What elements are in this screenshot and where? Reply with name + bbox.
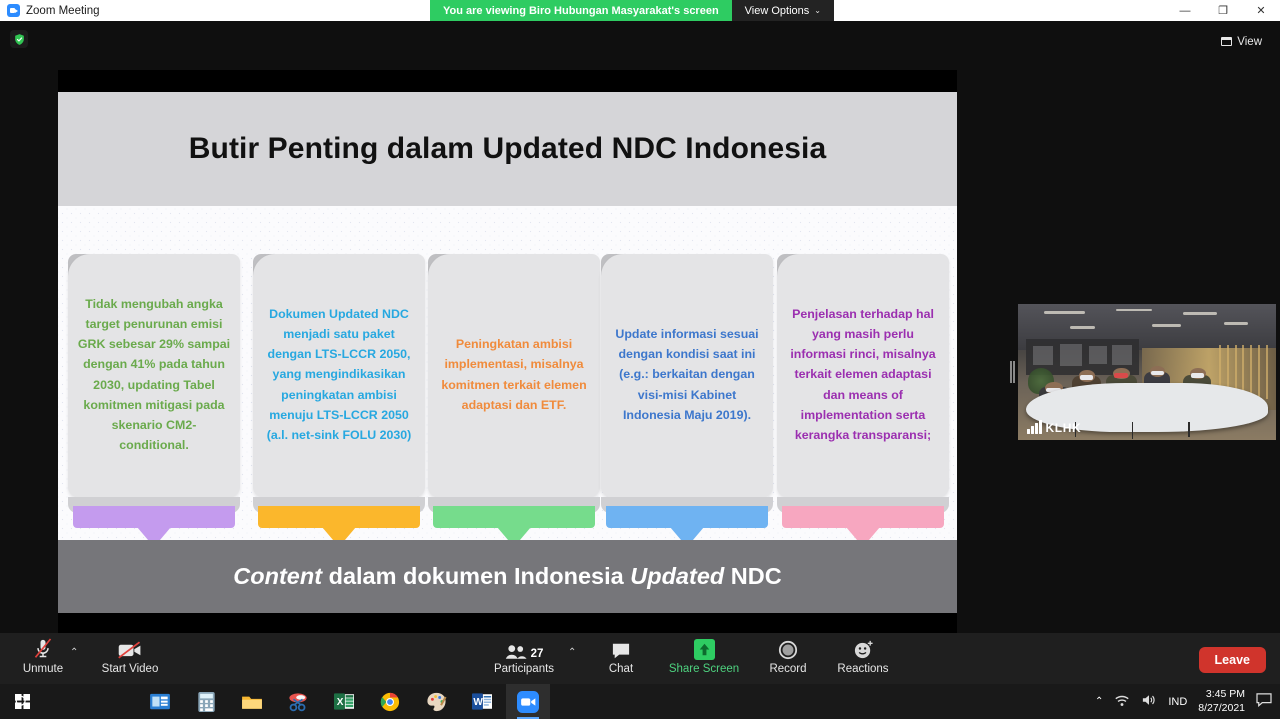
- clock[interactable]: 3:45 PM 8/27/2021: [1198, 688, 1245, 714]
- watermark-label: KLHK: [1046, 422, 1082, 434]
- maximize-restore-button[interactable]: ❐: [1204, 0, 1242, 21]
- share-screen-button[interactable]: Share Screen: [663, 638, 745, 675]
- info-card[interactable]: Update informasi sesuai dengan kondisi s…: [601, 254, 773, 497]
- signal-bars-icon: [1027, 420, 1042, 434]
- speaker-icon[interactable]: [1141, 693, 1157, 710]
- screen-share-banner: You are viewing Biro Hubungan Masyarakat…: [430, 0, 732, 21]
- leave-button[interactable]: Leave: [1199, 647, 1266, 673]
- window-controls: — ❐ ✕: [1166, 0, 1280, 21]
- card-ribbon: [433, 506, 595, 528]
- banner-mid-2: NDC: [724, 563, 781, 589]
- watermark: KLHK: [1027, 420, 1081, 434]
- paint-icon[interactable]: [414, 684, 458, 719]
- wifi-icon[interactable]: [1114, 694, 1130, 710]
- participants-button[interactable]: 27 Participants: [490, 638, 558, 675]
- reactions-button[interactable]: Reactions: [829, 638, 897, 675]
- clock-time: 3:45 PM: [1198, 688, 1245, 701]
- notification-icon[interactable]: [1256, 693, 1272, 710]
- meeting-room-video: KLHK: [1018, 304, 1276, 440]
- card-body: Penjelasan terhadap hal yang masih perlu…: [777, 254, 949, 497]
- card-text: Penjelasan terhadap hal yang masih perlu…: [786, 304, 940, 445]
- card-ribbon: [73, 506, 235, 528]
- card-text: Dokumen Updated NDC menjadi satu paket d…: [262, 304, 416, 445]
- cards-row: Tidak mengubah angka target penurunan em…: [58, 254, 957, 504]
- banner-text: Content dalam dokumen Indonesia Updated …: [233, 563, 781, 590]
- app-identity: Zoom Meeting: [0, 4, 100, 17]
- slide-title-text: Butir Penting dalam Updated NDC Indonesi…: [189, 132, 826, 165]
- minimize-button[interactable]: —: [1166, 0, 1204, 21]
- window-title-bar: Zoom Meeting You are viewing Biro Hubung…: [0, 0, 1280, 21]
- slide-header: Butir Penting dalam Updated NDC Indonesi…: [58, 92, 957, 206]
- slide-bottom-banner: Content dalam dokumen Indonesia Updated …: [58, 540, 957, 613]
- window-title: Zoom Meeting: [26, 5, 100, 17]
- reactions-label: Reactions: [837, 663, 888, 675]
- presentation-slide: Butir Penting dalam Updated NDC Indonesi…: [58, 92, 957, 613]
- record-label: Record: [769, 663, 806, 675]
- card-body: Dokumen Updated NDC menjadi satu paket d…: [253, 254, 425, 497]
- video-panel-resize-handle[interactable]: [1010, 361, 1015, 383]
- banner-mid-1: dalam dokumen Indonesia: [322, 563, 630, 589]
- system-tray: ⌃ IND 3:45 PM 8/27/2021: [1095, 684, 1280, 719]
- svg-text:W: W: [473, 697, 483, 708]
- card-ribbon: [258, 506, 420, 528]
- file-explorer-icon[interactable]: [230, 684, 274, 719]
- participants-count: 27: [531, 648, 544, 660]
- audio-options-caret-icon[interactable]: ⌃: [70, 647, 78, 658]
- calculator-icon[interactable]: [184, 684, 228, 719]
- close-button[interactable]: ✕: [1242, 0, 1280, 21]
- participant-video-thumbnail[interactable]: KLHK: [1018, 304, 1276, 440]
- chrome-icon[interactable]: [368, 684, 412, 719]
- participants-icon: 27: [505, 638, 544, 660]
- info-card[interactable]: Tidak mengubah angka target penurunan em…: [68, 254, 240, 497]
- view-options-label: View Options: [745, 5, 810, 17]
- view-options-button[interactable]: View Options ⌄: [732, 0, 834, 21]
- shared-screen-area: Butir Penting dalam Updated NDC Indonesi…: [58, 70, 957, 635]
- meeting-stage: View Butir Penting dalam Updated NDC Ind…: [0, 21, 1280, 633]
- unmute-button[interactable]: Unmute: [18, 638, 68, 675]
- zoom-logo-icon: [7, 4, 20, 17]
- snipping-tool-icon[interactable]: [276, 684, 320, 719]
- info-card[interactable]: Peningkatan ambisi implementasi, misalny…: [428, 254, 600, 497]
- tray-overflow-caret-icon[interactable]: ⌃: [1095, 696, 1103, 707]
- share-screen-icon: [694, 638, 715, 660]
- zoom-icon[interactable]: [506, 684, 550, 719]
- search-icon[interactable]: [0, 684, 44, 719]
- slide-title: Butir Penting dalam Updated NDC Indonesi…: [189, 132, 826, 166]
- windows-taskbar: X W: [0, 684, 1280, 719]
- share-screen-label: Share Screen: [669, 663, 739, 675]
- card-text: Tidak mengubah angka target penurunan em…: [77, 294, 231, 455]
- sharing-indicator-group: You are viewing Biro Hubungan Masyarakat…: [430, 0, 834, 21]
- zoom-toolbar: Unmute ⌃ Start Video 27 Participants ⌃: [0, 633, 1280, 684]
- microphone-muted-icon: [33, 638, 53, 660]
- smiley-reactions-icon: [853, 638, 874, 660]
- clock-date: 8/27/2021: [1198, 702, 1245, 715]
- grid-view-icon: [1221, 37, 1232, 46]
- card-body: Peningkatan ambisi implementasi, misalny…: [428, 254, 600, 497]
- unmute-label: Unmute: [23, 663, 63, 675]
- card-text: Peningkatan ambisi implementasi, misalny…: [437, 334, 591, 414]
- card-body: Tidak mengubah angka target penurunan em…: [68, 254, 240, 497]
- excel-icon[interactable]: X: [322, 684, 366, 719]
- word-icon[interactable]: W: [460, 684, 504, 719]
- banner-word-content: Content: [233, 563, 322, 589]
- start-video-button[interactable]: Start Video: [94, 638, 166, 675]
- chat-button[interactable]: Chat: [597, 638, 645, 675]
- card-ribbon: [606, 506, 768, 528]
- start-video-label: Start Video: [102, 663, 159, 675]
- info-card[interactable]: Penjelasan terhadap hal yang masih perlu…: [777, 254, 949, 497]
- view-layout-button[interactable]: View: [1215, 32, 1268, 51]
- powerpoint-icon[interactable]: [138, 684, 182, 719]
- card-body: Update informasi sesuai dengan kondisi s…: [601, 254, 773, 497]
- svg-text:X: X: [337, 697, 344, 708]
- language-indicator[interactable]: IND: [1168, 696, 1187, 708]
- info-card[interactable]: Dokumen Updated NDC menjadi satu paket d…: [253, 254, 425, 497]
- participants-options-caret-icon[interactable]: ⌃: [568, 647, 576, 658]
- card-ribbon: [782, 506, 944, 528]
- record-circle-icon: [778, 638, 798, 660]
- chat-bubble-icon: [611, 638, 631, 660]
- chat-label: Chat: [609, 663, 633, 675]
- card-text: Update informasi sesuai dengan kondisi s…: [610, 324, 764, 424]
- record-button[interactable]: Record: [760, 638, 816, 675]
- video-camera-muted-icon: [117, 638, 143, 660]
- shield-check-icon[interactable]: [10, 30, 28, 48]
- banner-word-updated: Updated: [630, 563, 724, 589]
- participants-label: Participants: [494, 663, 554, 675]
- chevron-down-icon: ⌄: [814, 6, 821, 15]
- view-button-label: View: [1237, 36, 1262, 48]
